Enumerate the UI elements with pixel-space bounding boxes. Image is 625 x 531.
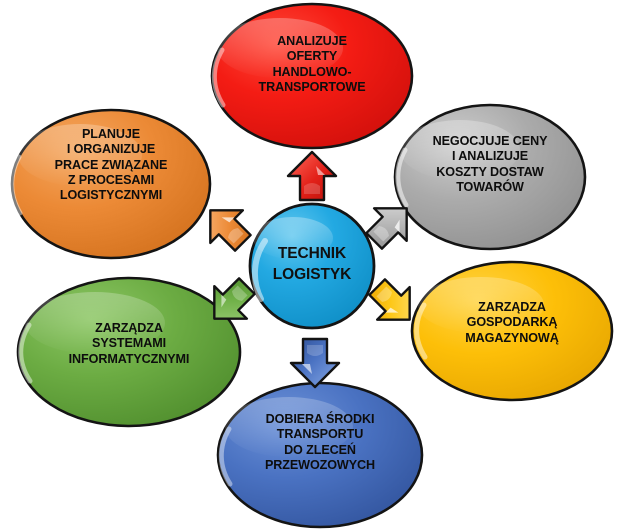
node-upper-left-orange-shape[interactable]: [12, 110, 210, 258]
arrow-down-blue: [291, 339, 339, 387]
node-lower-left-green-shape[interactable]: [18, 278, 240, 426]
node-lower-right-amber-shape[interactable]: [412, 262, 612, 400]
node-upper-right-gray-shape[interactable]: [395, 105, 585, 249]
node-top-red-shape[interactable]: [212, 4, 412, 148]
node-bottom-blue-shape[interactable]: [218, 383, 422, 527]
arrow-up-red: [288, 152, 336, 200]
diagram-graphics: [0, 0, 625, 531]
diagram-canvas: ANALIZUJE OFERTY HANDLOWO- TRANSPORTOWE …: [0, 0, 625, 531]
center-hub-shape[interactable]: [250, 204, 374, 328]
